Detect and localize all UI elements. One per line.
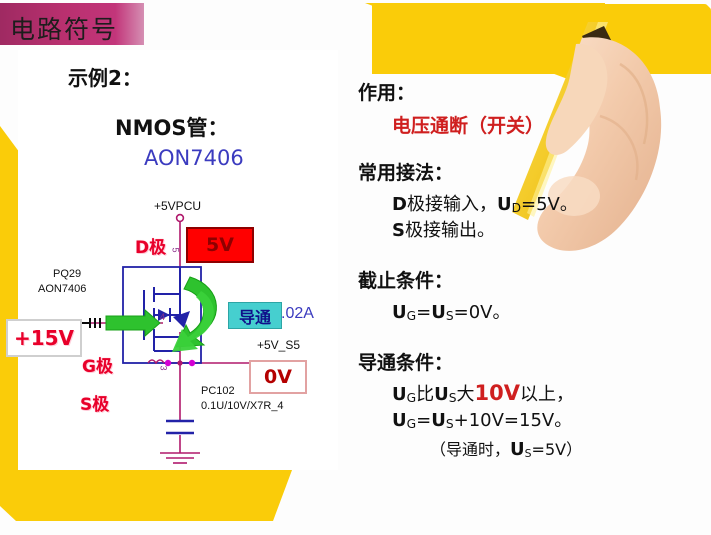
pin-number-source: 3 [159, 365, 169, 370]
section-wiring-heading: 常用接法： [358, 158, 703, 185]
cutoff-value: =0V。 [454, 302, 511, 323]
cutoff-ug-sub: G [407, 309, 416, 323]
wiring-u-subscript: D [512, 201, 521, 215]
device-title: NMOS管： [115, 112, 228, 142]
cond2-us-u: U [431, 410, 446, 431]
slide-canvas: 电路符号 示例2： NMOS管： AON7406 [0, 0, 711, 535]
section-cutoff-heading: 截止条件： [358, 266, 703, 293]
section-wiring-line-2: S极接输出。 [358, 216, 703, 242]
section-conduction-heading: 导通条件： [358, 348, 703, 375]
wiring-s-text: 极接输出。 [405, 220, 495, 241]
pin-number-gate: 4 [160, 312, 165, 322]
cond2-ug-sub: G [407, 417, 416, 431]
cond3-tail: =5V） [532, 440, 583, 459]
current-value-label: .02A [281, 305, 314, 323]
cutoff-equals: = [416, 302, 431, 323]
wiring-u-symbol: U [497, 194, 512, 215]
section-purpose-heading: 作用： [358, 78, 703, 105]
cond-ug-u: U [392, 384, 407, 405]
section-conduction-line-3: （导通时，US=5V） [358, 436, 703, 460]
net-label-vpcu: +5VPCU [154, 199, 201, 213]
wiring-d-text: 极接输入， [407, 194, 497, 215]
section-purpose-line: 电压通断（开关） [358, 111, 703, 138]
cond3-open: （导通时， [430, 440, 510, 459]
cond-line1-tail: 以上， [520, 384, 574, 405]
header-title-tab: 电路符号 [0, 3, 144, 45]
cond-threshold-value: 10V [475, 381, 520, 405]
net-label-5v-s5: +5V_S5 [257, 338, 300, 352]
section-wiring-line-1: D极接输入，UD=5V。 [358, 190, 703, 216]
cond3-us-sub: S [525, 447, 532, 460]
section-cutoff-line: UG=US=0V。 [358, 298, 703, 324]
cond2-tail: +10V=15V。 [454, 410, 573, 431]
cond-ug-sub: G [407, 391, 416, 405]
explanation-panel: 作用： 电压通断（开关） 常用接法： D极接输入，UD=5V。 S极接输出。 截… [358, 78, 703, 518]
section-wiring: 常用接法： D极接输入，UD=5V。 S极接输出。 [358, 158, 703, 242]
cond-compare-word: 比 [416, 384, 434, 405]
wiring-s-symbol: S [392, 220, 405, 241]
cond2-us-sub: S [446, 417, 454, 431]
section-conduction: 导通条件： UG比US大10V以上， UG=US+10V=15V。 （导通时，U… [358, 348, 703, 460]
voltage-box-gate-15v: +15V [6, 319, 82, 357]
ref-part-number: AON7406 [38, 283, 86, 295]
section-conduction-line-2: UG=US+10V=15V。 [358, 406, 703, 432]
terminal-label-drain: D极 [135, 233, 166, 258]
page-title: 电路符号 [10, 10, 118, 46]
cap-ref-designator: PC102 [201, 385, 235, 397]
cap-value-label: 0.1U/10V/X7R_4 [201, 400, 284, 412]
terminal-label-source: S极 [80, 390, 109, 415]
cond2-equals: = [416, 410, 431, 431]
cond2-ug-u: U [392, 410, 407, 431]
cutoff-us-u: U [431, 302, 446, 323]
wiring-u-value: =5V。 [521, 194, 578, 215]
voltage-box-source-0v: 0V [249, 360, 307, 394]
yellow-top-bar-decoration [367, 4, 711, 74]
section-conduction-line-1: UG比US大10V以上， [358, 380, 703, 406]
section-cutoff: 截止条件： UG=US=0V。 [358, 266, 703, 324]
cutoff-ug-u: U [392, 302, 407, 323]
cond3-us-u: U [510, 439, 525, 460]
section-purpose: 作用： 电压通断（开关） [358, 78, 703, 138]
terminal-label-gate: G极 [82, 352, 113, 377]
status-badge-conducting: 导通 [228, 302, 282, 329]
part-number-label: AON7406 [144, 146, 244, 170]
cond-bigger-word: 大 [457, 384, 475, 405]
cutoff-us-sub: S [446, 309, 454, 323]
cond-us-sub: S [449, 391, 457, 405]
wiring-d-symbol: D [392, 194, 407, 215]
example-label: 示例2： [68, 62, 142, 91]
voltage-box-drain-5v: 5V [186, 227, 254, 263]
cond-us-u: U [434, 384, 449, 405]
ref-designator: PQ29 [53, 268, 81, 280]
pin-number-drain: 5 [171, 247, 181, 252]
